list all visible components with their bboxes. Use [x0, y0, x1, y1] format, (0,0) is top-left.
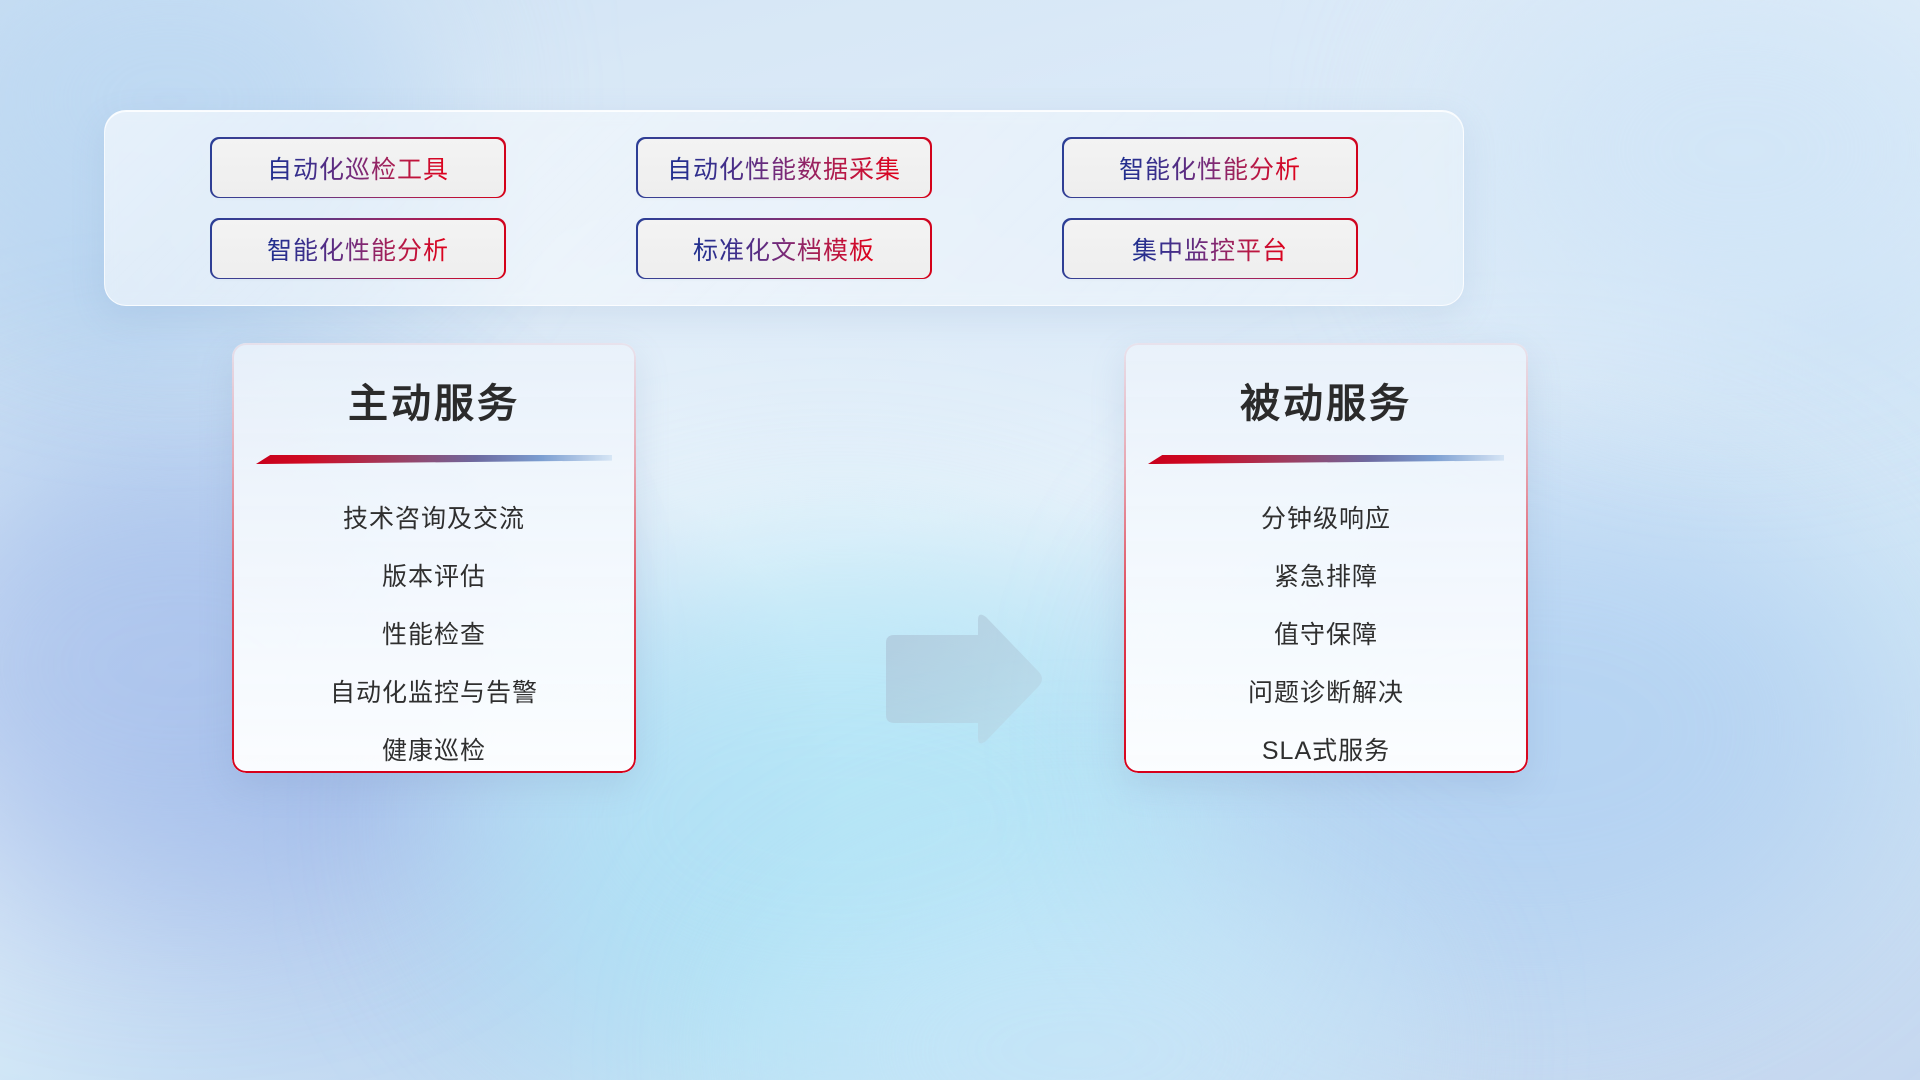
capability-tag-4[interactable]: 标准化文档模板: [638, 220, 930, 278]
card-divider: [256, 455, 612, 464]
service-item: 问题诊断解决: [1148, 664, 1504, 722]
service-item: 技术咨询及交流: [256, 490, 612, 548]
service-item: 健康巡检: [256, 722, 612, 773]
capability-tag-5[interactable]: 集中监控平台: [1064, 220, 1356, 278]
capability-tag-label: 自动化性能数据采集: [667, 150, 901, 186]
capability-tag-label: 自动化巡检工具: [267, 150, 449, 186]
diagram-canvas: 自动化巡检工具 自动化性能数据采集 智能化性能分析 智能化性能分析 标准化文档模…: [0, 0, 1920, 1080]
background-blob: [760, 860, 1400, 1080]
service-item-list: 分钟级响应 紧急排障 值守保障 问题诊断解决 SLA式服务: [1148, 490, 1504, 773]
background-blob: [1460, 0, 1920, 360]
service-item: SLA式服务: [1148, 722, 1504, 773]
capability-tag-label: 智能化性能分析: [1119, 150, 1301, 186]
service-item: 版本评估: [256, 548, 612, 606]
card-divider: [1148, 455, 1504, 464]
service-item: 分钟级响应: [1148, 490, 1504, 548]
service-item: 紧急排障: [1148, 548, 1504, 606]
arrow-right-icon: [878, 613, 1046, 745]
service-item-list: 技术咨询及交流 版本评估 性能检查 自动化监控与告警 健康巡检: [256, 490, 612, 773]
capability-tag-1[interactable]: 自动化性能数据采集: [638, 139, 930, 197]
capability-tag-label: 智能化性能分析: [267, 231, 449, 267]
capability-tag-panel: 自动化巡检工具 自动化性能数据采集 智能化性能分析 智能化性能分析 标准化文档模…: [104, 110, 1464, 306]
service-item: 性能检查: [256, 606, 612, 664]
capability-tag-3[interactable]: 智能化性能分析: [212, 220, 504, 278]
service-card-reactive[interactable]: 被动服务 分钟级响应 紧急排障 值守保障 问题诊断解决 SLA式服务: [1124, 343, 1528, 773]
capability-tag-2[interactable]: 智能化性能分析: [1064, 139, 1356, 197]
capability-tag-0[interactable]: 自动化巡检工具: [212, 139, 504, 197]
card-title: 主动服务: [256, 379, 612, 429]
card-title: 被动服务: [1148, 379, 1504, 429]
capability-tag-label: 集中监控平台: [1132, 231, 1288, 267]
capability-tag-label: 标准化文档模板: [693, 231, 875, 267]
service-item: 值守保障: [1148, 606, 1504, 664]
service-item: 自动化监控与告警: [256, 664, 612, 722]
service-card-proactive[interactable]: 主动服务 技术咨询及交流 版本评估 性能检查 自动化监控与告警 健康巡检: [232, 343, 636, 773]
